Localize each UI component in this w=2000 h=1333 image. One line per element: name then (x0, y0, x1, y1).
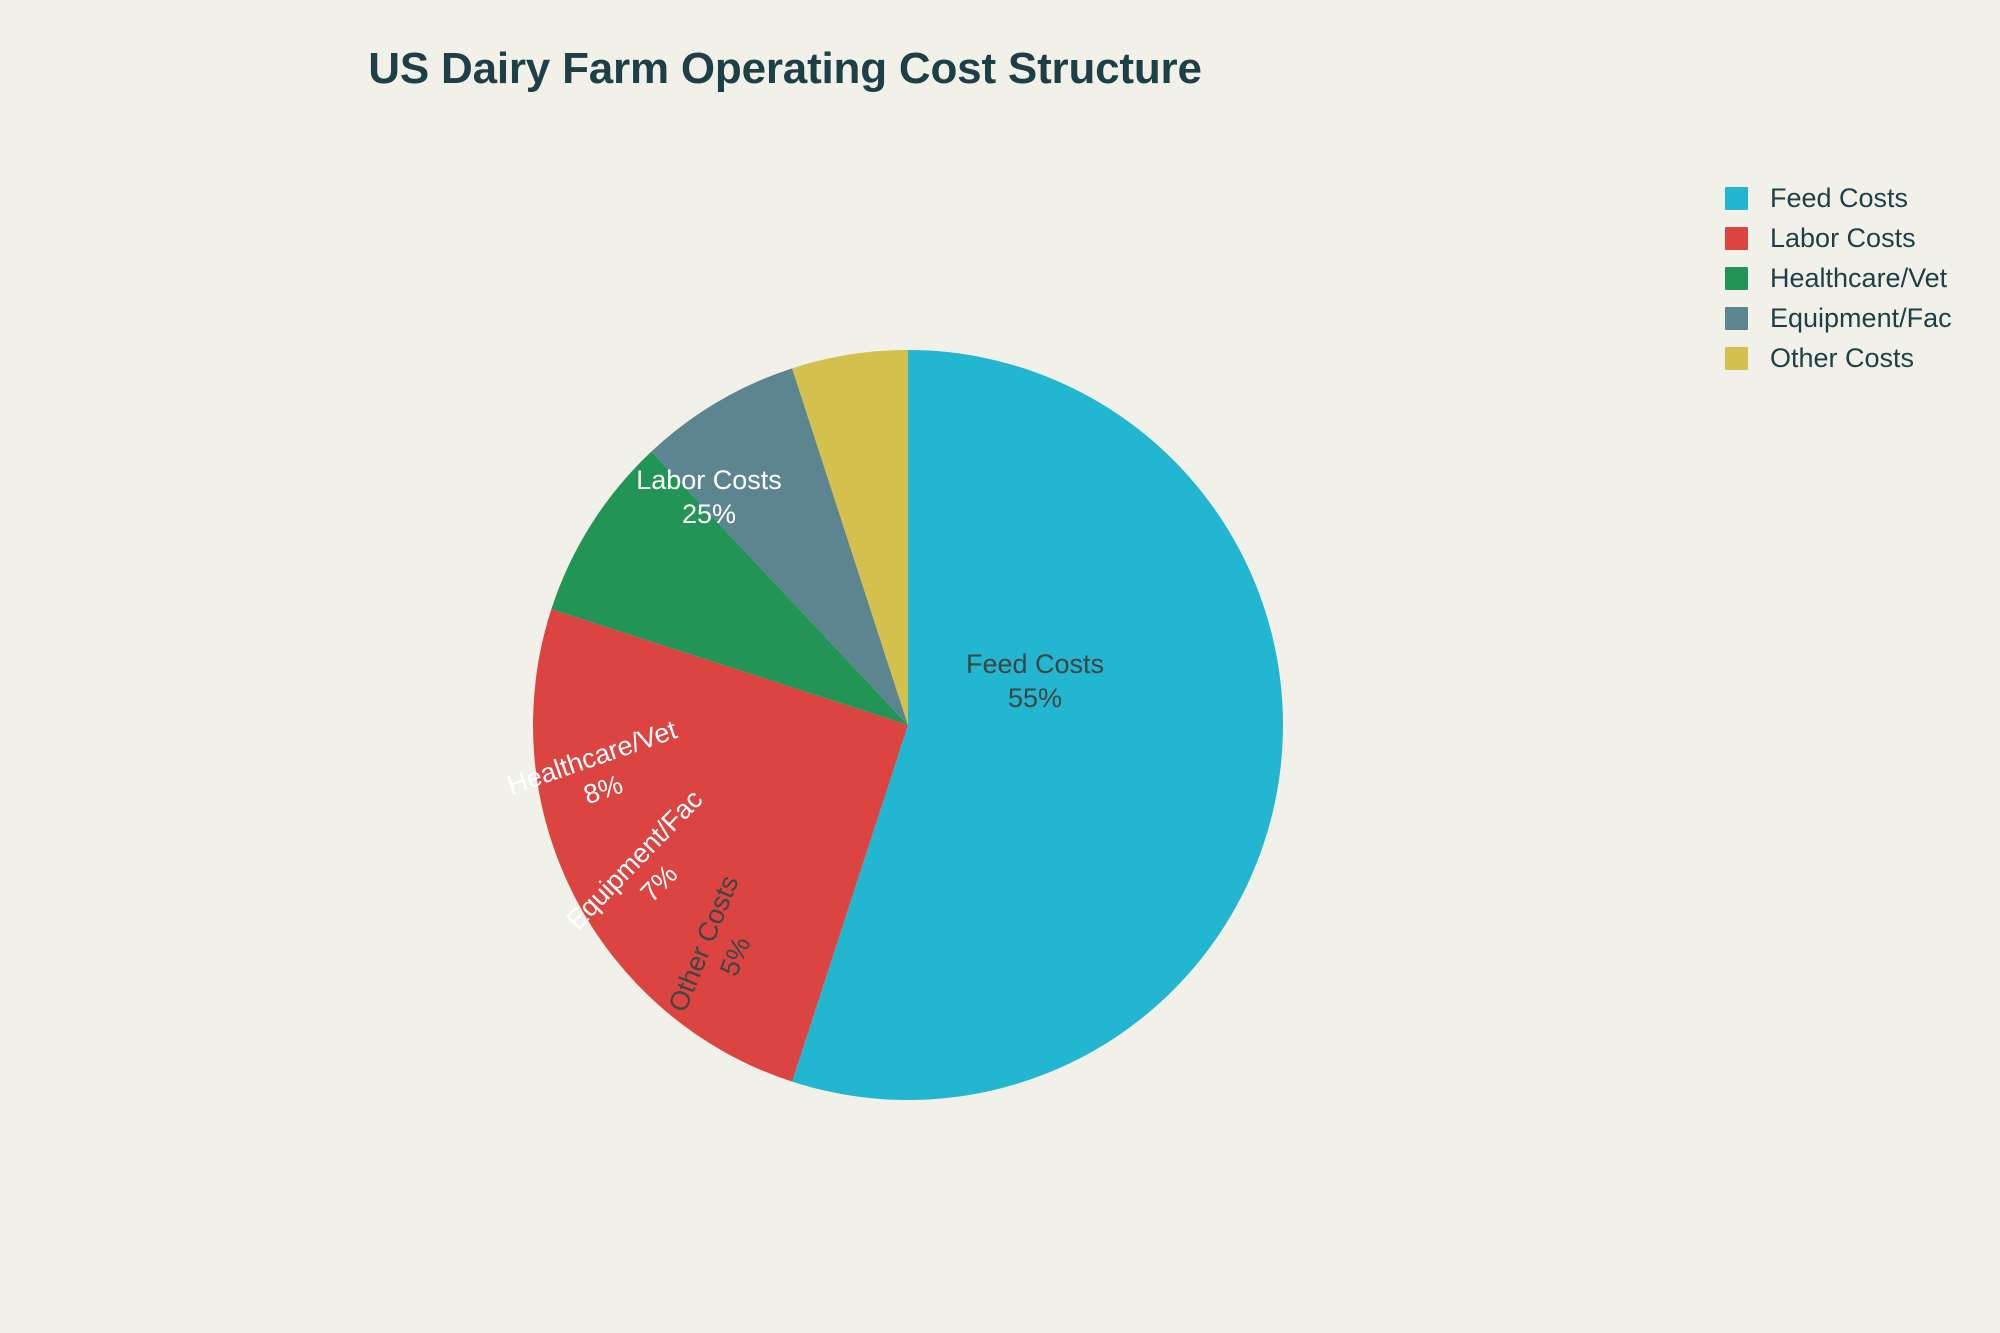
pie-slice-label-value: 55% (1008, 683, 1062, 713)
legend-swatch-icon (1725, 307, 1748, 330)
legend-item[interactable]: Equipment/Fac (1725, 298, 1985, 338)
chart-legend: Feed CostsLabor CostsHealthcare/VetEquip… (1725, 178, 1985, 378)
legend-item[interactable]: Healthcare/Vet (1725, 258, 1985, 298)
legend-item-label: Equipment/Fac (1770, 305, 1952, 332)
legend-item-label: Healthcare/Vet (1770, 265, 1947, 292)
legend-swatch-icon (1725, 187, 1748, 210)
legend-swatch-icon (1725, 347, 1748, 370)
legend-item[interactable]: Other Costs (1725, 338, 1985, 378)
legend-item-label: Labor Costs (1770, 225, 1916, 252)
chart-figure: US Dairy Farm Operating Cost Structure F… (0, 0, 2000, 1333)
legend-item[interactable]: Feed Costs (1725, 178, 1985, 218)
legend-item[interactable]: Labor Costs (1725, 218, 1985, 258)
legend-swatch-icon (1725, 227, 1748, 250)
legend-item-label: Other Costs (1770, 345, 1914, 372)
pie-slice-label-name: Labor Costs (636, 465, 782, 495)
legend-item-label: Feed Costs (1770, 185, 1908, 212)
pie-chart: Feed Costs55%Labor Costs25%Healthcare/Ve… (0, 0, 2000, 1333)
pie-slice-label-name: Feed Costs (966, 649, 1104, 679)
pie-slice-label-value: 25% (682, 499, 736, 529)
legend-swatch-icon (1725, 267, 1748, 290)
